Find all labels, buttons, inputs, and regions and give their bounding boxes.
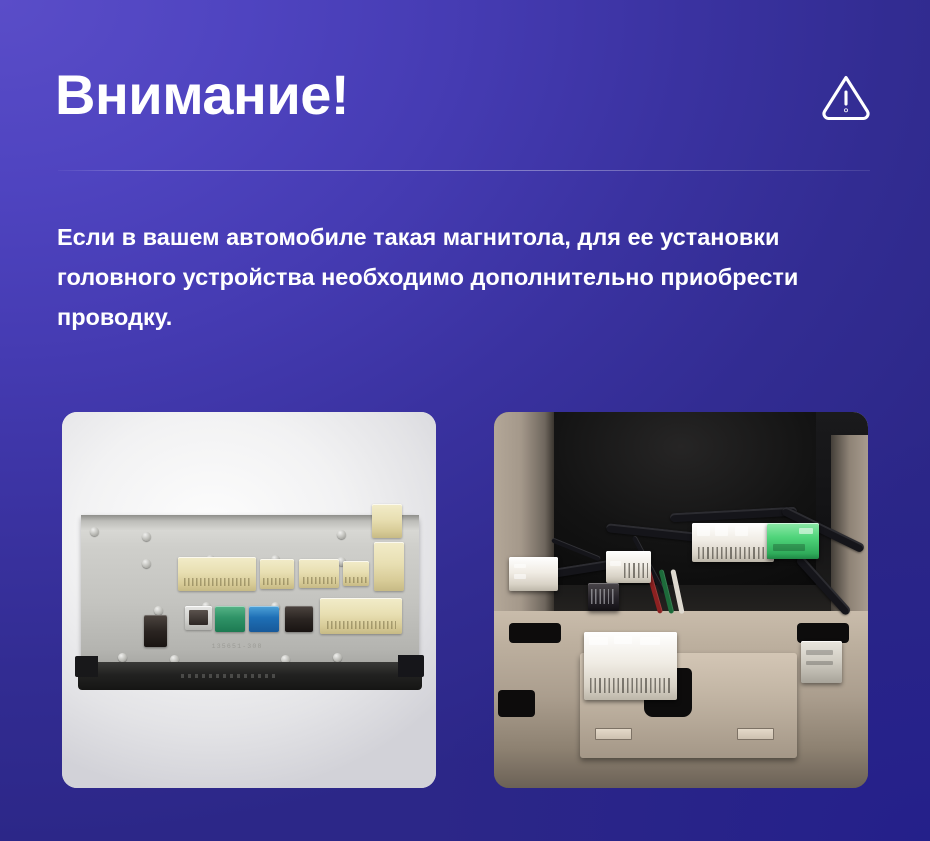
dashboard-wiring-photo[interactable] <box>494 412 868 788</box>
page-title: Внимание! <box>55 67 349 123</box>
board-label: 135651-308 <box>212 643 263 650</box>
slide-header: Внимание! <box>55 55 872 135</box>
header-divider <box>58 170 870 171</box>
head-unit-rear-photo[interactable]: 135651-308 <box>62 412 436 788</box>
warning-triangle-icon <box>820 68 872 122</box>
dashboard-wiring-image <box>494 412 868 788</box>
warning-message: Если в вашем автомобиле такая магнитола,… <box>57 217 877 337</box>
photo-gallery: 135651-308 <box>0 412 930 788</box>
head-unit-image: 135651-308 <box>62 412 436 788</box>
warning-slide: Внимание! Если в вашем автомобиле такая … <box>0 0 930 841</box>
